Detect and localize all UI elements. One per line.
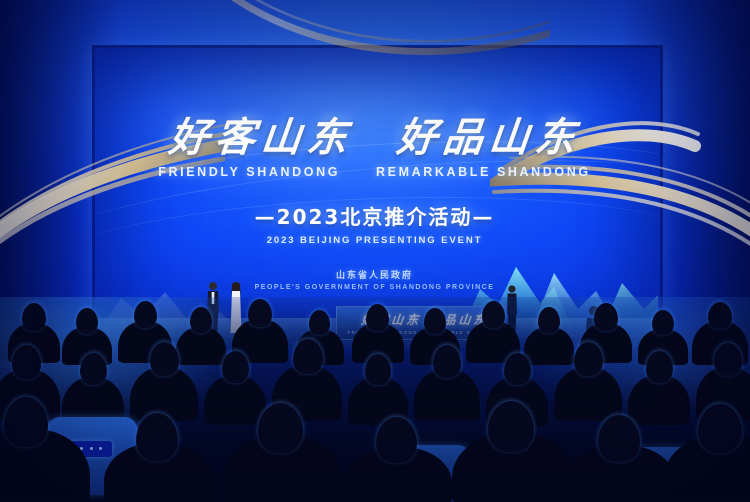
attendee-silhouette [482, 301, 505, 328]
attendee-silhouette [309, 310, 330, 335]
attendee-silhouette [708, 302, 732, 329]
event-photo-scene: 好客山东 好品山东 FRIENDLY SHANDONG REMARKABLE S… [0, 0, 750, 502]
attendee-silhouette [190, 307, 212, 333]
attendee-silhouette [248, 299, 272, 327]
attendee-silhouette [4, 397, 48, 447]
event-title-en: 2023 BEIJING PRESENTING EVENT [92, 235, 657, 246]
attendee-silhouette [222, 351, 249, 383]
attendee-silhouette [714, 343, 742, 376]
attendee-silhouette [433, 345, 461, 378]
attendee-silhouette [12, 345, 41, 379]
organizer-en: PEOPLE'S GOVERNMENT OF SHANDONG PROVINCE [92, 284, 657, 291]
organizer-cn: 山东省人民政府 [92, 268, 657, 281]
slogan-en-left: FRIENDLY SHANDONG [158, 165, 340, 179]
attendee-silhouette [150, 342, 179, 376]
attendee-silhouette [365, 354, 391, 385]
attendee-silhouette [652, 310, 674, 335]
attendee-silhouette [293, 339, 323, 374]
attendee-silhouette [258, 403, 303, 453]
slogan-cn-row: 好客山东 好品山东 [92, 118, 657, 158]
attendee-silhouette [136, 413, 178, 461]
attendee-silhouette [646, 351, 673, 383]
attendee-silhouette [134, 301, 157, 328]
attendee-silhouette [76, 308, 98, 334]
attendee-silhouette [22, 303, 46, 331]
attendee-silhouette [574, 342, 603, 376]
attendee-silhouette [424, 308, 446, 334]
slogan-cn-right: 好品山东 [394, 118, 582, 158]
attendee-silhouette [504, 353, 531, 385]
attendee-silhouette [538, 307, 560, 333]
event-title-cn: —2023北京推介活动— [92, 201, 657, 230]
screen-text-block: 好客山东 好品山东 FRIENDLY SHANDONG REMARKABLE S… [92, 118, 657, 291]
slogan-en-row: FRIENDLY SHANDONG REMARKABLE SHANDONG [92, 165, 657, 179]
slogan-cn-left: 好客山东 [166, 118, 354, 158]
audience-area [0, 297, 750, 502]
slogan-en-right: REMARKABLE SHANDONG [376, 165, 591, 179]
attendee-silhouette [80, 353, 107, 385]
attendee-silhouette [594, 303, 618, 331]
attendee-silhouette [598, 415, 640, 462]
attendee-silhouette [366, 304, 389, 331]
attendee-silhouette [376, 417, 417, 463]
attendee-silhouette [698, 404, 742, 453]
attendee-silhouette [488, 401, 534, 452]
